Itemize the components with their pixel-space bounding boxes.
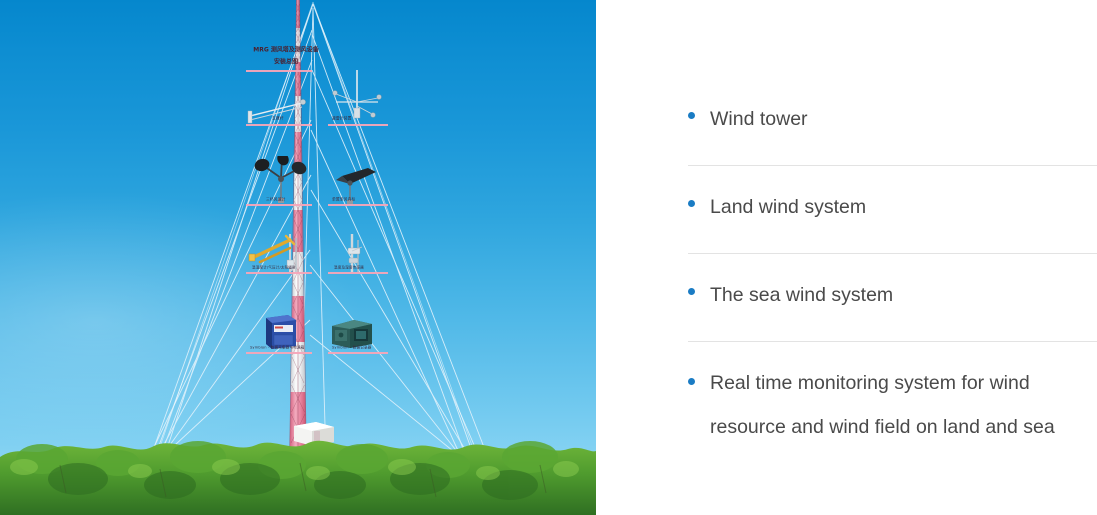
callout-label-wind-vane: 单翼型风向标 bbox=[332, 197, 355, 202]
wind-tower-photo: MRG 测风塔及测风设备 安装总图 支撑杆 避雷针装置 bbox=[0, 0, 596, 515]
callout-label-boom-arm-upper: 支撑杆 bbox=[272, 116, 284, 121]
feature-item-land-wind-system[interactable]: Land wind system bbox=[688, 166, 1097, 254]
callout-rule-1 bbox=[246, 124, 312, 126]
feature-label: Land wind system bbox=[710, 166, 866, 248]
callout-rule-3 bbox=[246, 204, 312, 206]
callout-label-data-logger: Symbion - 数据采集器与电源箱 bbox=[250, 345, 304, 350]
product-feature-page: MRG 测风塔及测风设备 安装总图 支撑杆 避雷针装置 bbox=[0, 0, 1097, 515]
bullet-icon bbox=[688, 288, 695, 295]
diagram-title-line2: 安装总图 bbox=[212, 58, 359, 67]
feature-item-real-time-monitoring[interactable]: Real time monitoring system for wind res… bbox=[688, 342, 1097, 468]
callout-label-lightning-rod: 避雷针装置 bbox=[332, 116, 352, 121]
feature-label: Wind tower bbox=[710, 78, 808, 160]
feature-list: Wind tower Land wind system The sea wind… bbox=[688, 78, 1097, 468]
bullet-icon bbox=[688, 112, 695, 119]
callout-rule-6 bbox=[328, 272, 388, 274]
callout-rule-8 bbox=[328, 352, 388, 354]
feature-label: Real time monitoring system for wind res… bbox=[710, 342, 1055, 468]
callout-rule-5 bbox=[246, 272, 312, 274]
bullet-icon bbox=[688, 200, 695, 207]
feature-item-wind-tower[interactable]: Wind tower bbox=[688, 78, 1097, 166]
callout-rule-4 bbox=[328, 204, 388, 206]
bullet-icon bbox=[688, 378, 695, 385]
callout-rule-2 bbox=[328, 124, 388, 126]
callout-label-sensor-boom: 温湿度计/气压计/太阳辐射 bbox=[252, 265, 296, 270]
tree-canopy bbox=[0, 423, 596, 515]
feature-list-panel: Wind tower Land wind system The sea wind… bbox=[596, 0, 1097, 515]
feature-item-sea-wind-system[interactable]: The sea wind system bbox=[688, 254, 1097, 342]
callout-label-anemometer: 三杯风速计 bbox=[266, 197, 286, 202]
diagram-title-line1: MRG 测风塔及测风设备 bbox=[212, 46, 359, 55]
diagram-title-rule bbox=[246, 70, 312, 72]
callout-label-power-box: Symbion - 数据记录器 bbox=[332, 345, 371, 350]
feature-label: The sea wind system bbox=[710, 254, 893, 336]
callout-label-mount-pole: 温度及湿度传感器 bbox=[334, 265, 364, 270]
callout-rule-7 bbox=[246, 352, 312, 354]
